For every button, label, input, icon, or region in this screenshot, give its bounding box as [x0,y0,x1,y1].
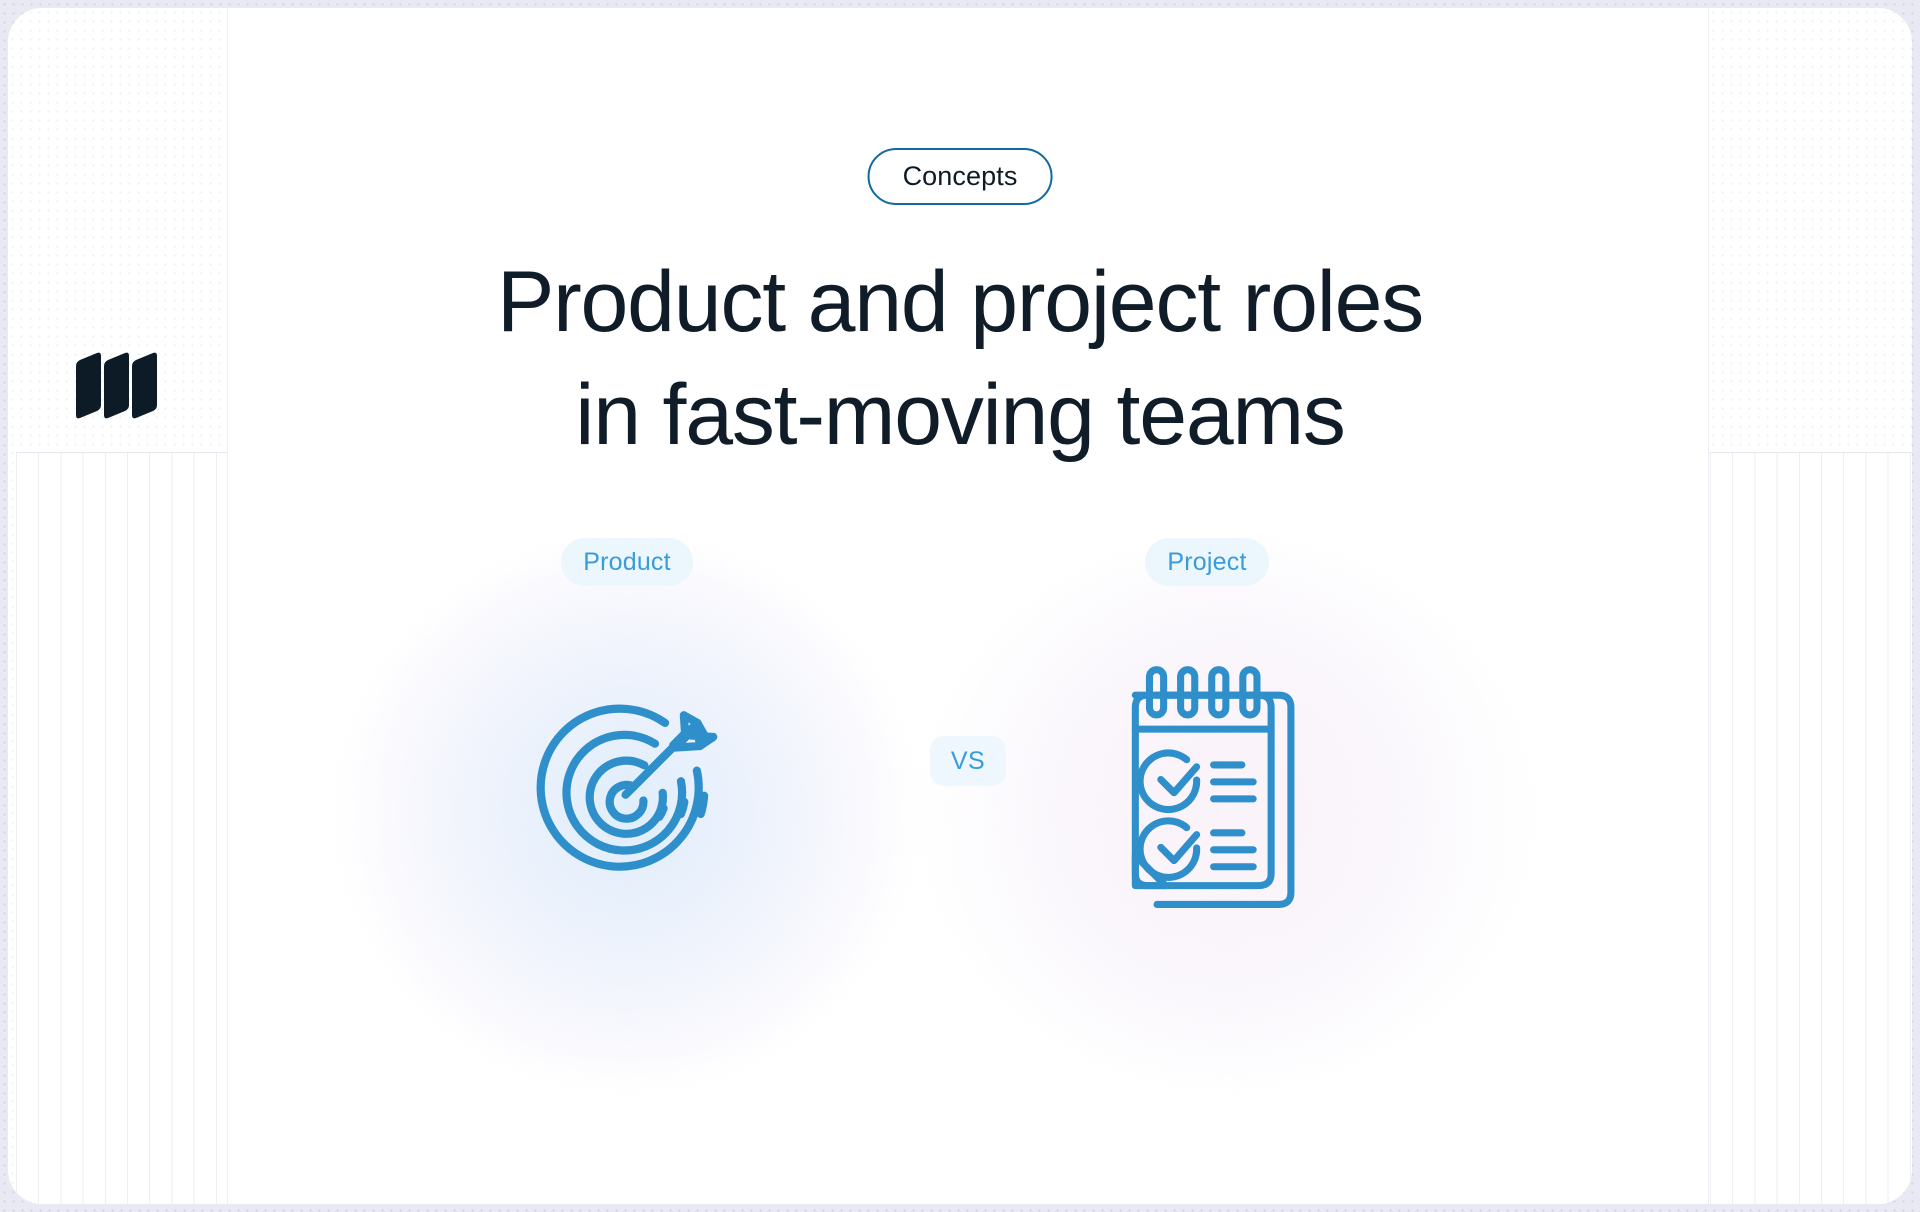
product-badge[interactable]: Product [561,538,693,586]
eyebrow-badge[interactable]: Concepts [868,148,1053,205]
product-icon-container [521,648,733,928]
target-with-arrow-icon [521,682,733,894]
left-stripe-margin [16,452,227,1204]
page-title: Product and project roles in fast-moving… [8,246,1912,472]
eyebrow-label: Concepts [903,161,1018,192]
page-card: Concepts Product and project roles in fa… [8,8,1912,1204]
page-title-line-2: in fast-moving teams [8,359,1912,472]
comparison-side-project: Project [927,538,1487,928]
project-badge-label: Project [1167,548,1246,577]
product-badge-label: Product [583,548,671,577]
page-title-line-1: Product and project roles [8,246,1912,359]
project-badge[interactable]: Project [1145,538,1268,586]
right-stripe-margin [1710,452,1912,1204]
comparison-section: Product [227,538,1709,1098]
comparison-side-product: Product [347,538,907,928]
notepad-checklist-icon [1108,661,1306,916]
project-icon-container [1108,648,1306,928]
